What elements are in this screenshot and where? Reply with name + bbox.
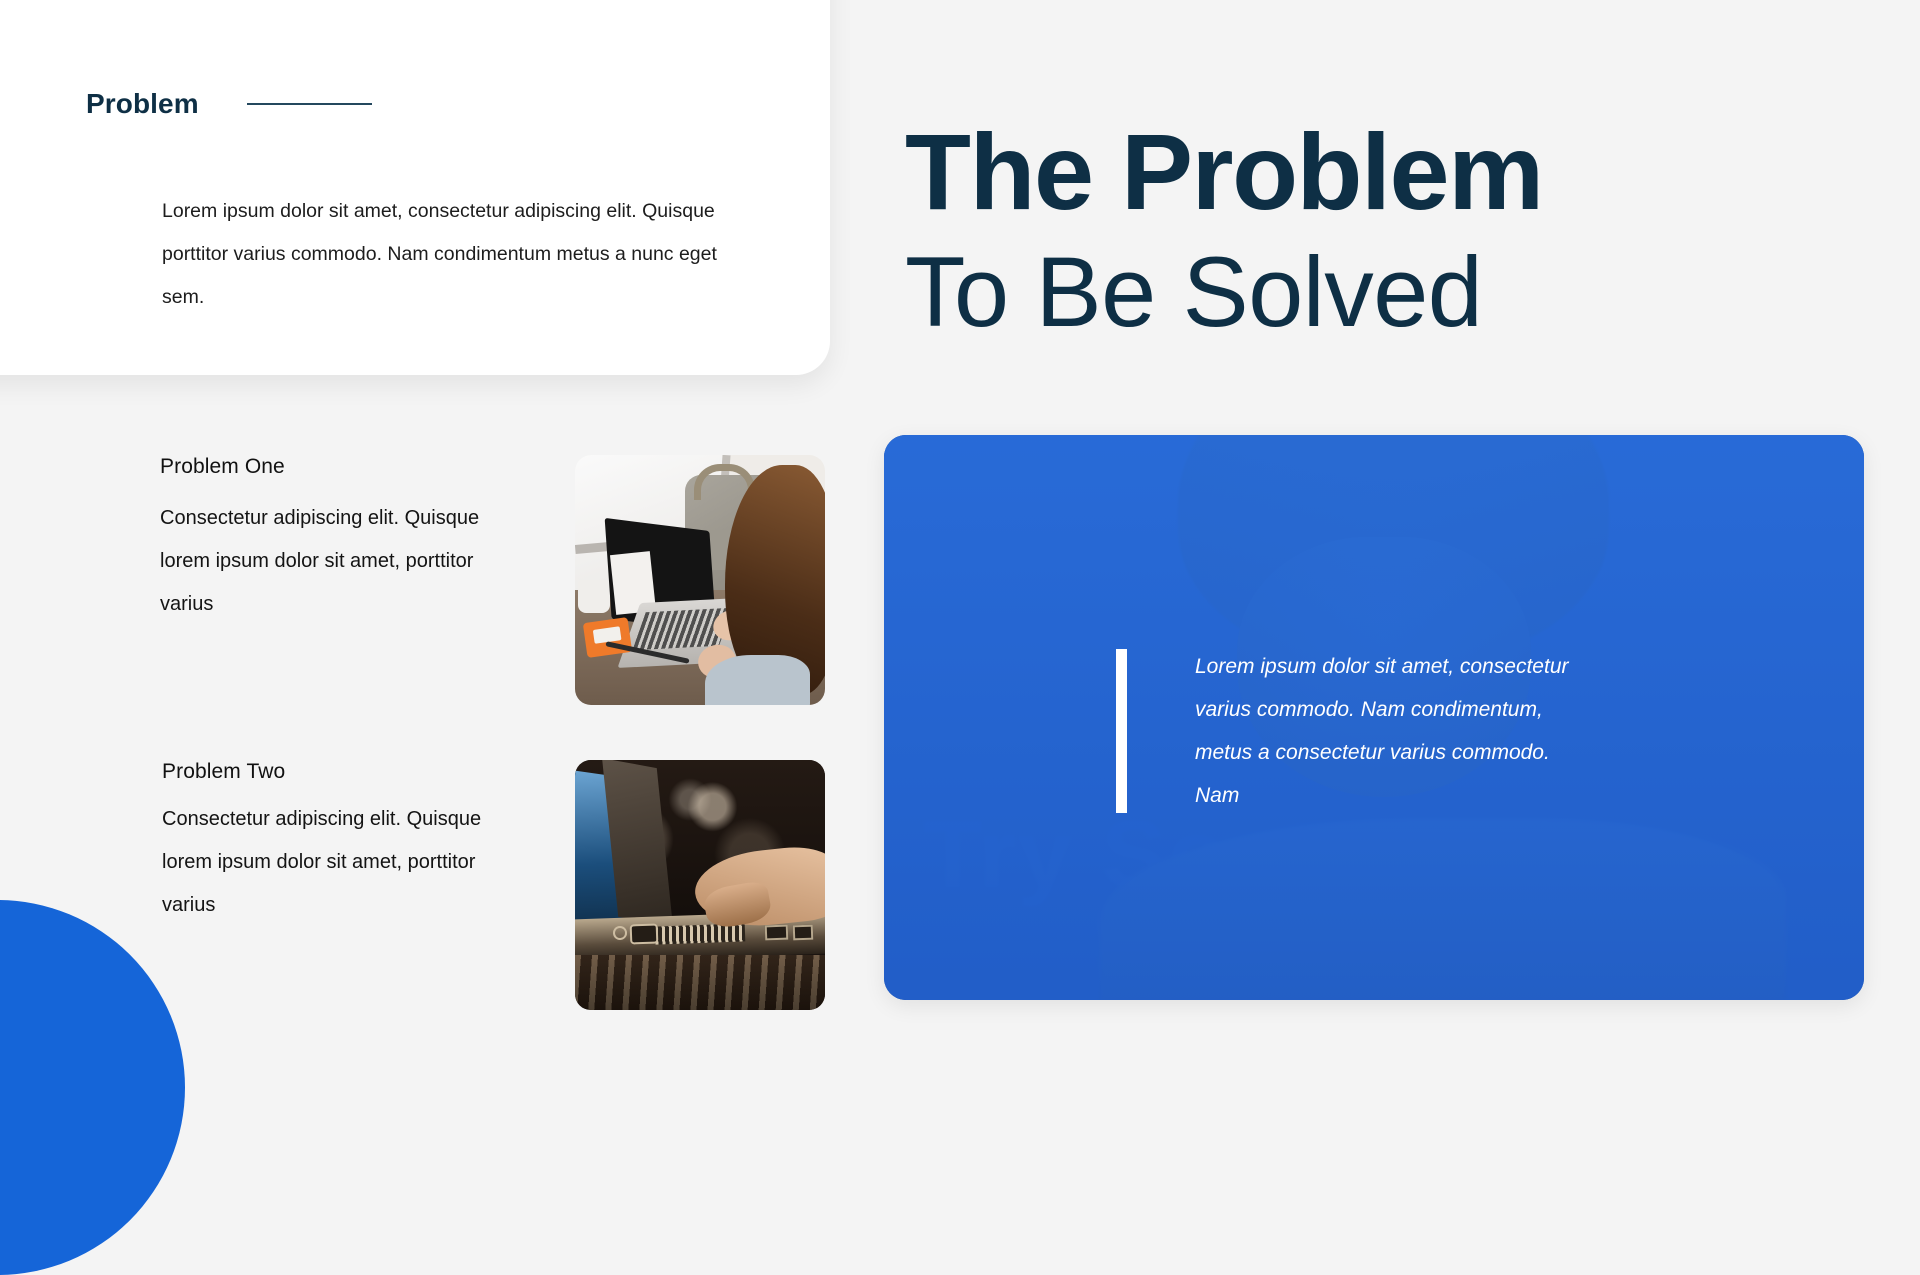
- eyebrow-rule-divider: [247, 103, 372, 105]
- quote-content: Lorem ipsum dolor sit amet, consectetur …: [1116, 645, 1595, 817]
- problem-one-image: [575, 455, 825, 705]
- page-title: The Problem To Be Solved: [905, 118, 1543, 341]
- problem-two-description: Consectetur adipiscing elit. Quisque lor…: [162, 798, 492, 927]
- quote-accent-bar: [1116, 649, 1127, 813]
- wooden-table-shape: [575, 955, 825, 1010]
- vga-port-shape: [630, 923, 658, 944]
- quote-text: Lorem ipsum dolor sit amet, consectetur …: [1195, 645, 1595, 817]
- laptop-vents-shape: [655, 923, 746, 944]
- problem-one-text: Problem One Consectetur adipiscing elit.…: [0, 455, 575, 626]
- cup-shape: [578, 580, 611, 613]
- shoulder-shape: [705, 655, 810, 705]
- eyebrow-label: Problem: [86, 88, 199, 120]
- problem-two-image: [575, 760, 825, 1010]
- usb-port-one-shape: [765, 925, 788, 941]
- headline-bold-line: The Problem: [905, 118, 1543, 226]
- usb-port-two-shape: [792, 925, 813, 941]
- problem-one-title: Problem One: [160, 455, 575, 479]
- problem-two-title: Problem Two: [162, 760, 575, 784]
- problem-item-one: Problem One Consectetur adipiscing elit.…: [0, 455, 825, 705]
- problem-one-description: Consectetur adipiscing elit. Quisque lor…: [160, 497, 490, 626]
- intro-card: Problem Lorem ipsum dolor sit amet, cons…: [0, 0, 830, 375]
- power-port-shape: [612, 926, 626, 940]
- problem-item-two: Problem Two Consectetur adipiscing elit.…: [0, 760, 825, 1010]
- section-eyebrow: Problem: [86, 88, 372, 120]
- orange-hard-drive-shape: [583, 617, 632, 658]
- headline-light-line: To Be Solved: [905, 242, 1543, 341]
- problem-two-text: Problem Two Consectetur adipiscing elit.…: [0, 760, 575, 927]
- quote-card: Try So Lorem ipsum dolor sit amet, conse…: [884, 435, 1864, 1000]
- intro-paragraph: Lorem ipsum dolor sit amet, consectetur …: [162, 190, 762, 319]
